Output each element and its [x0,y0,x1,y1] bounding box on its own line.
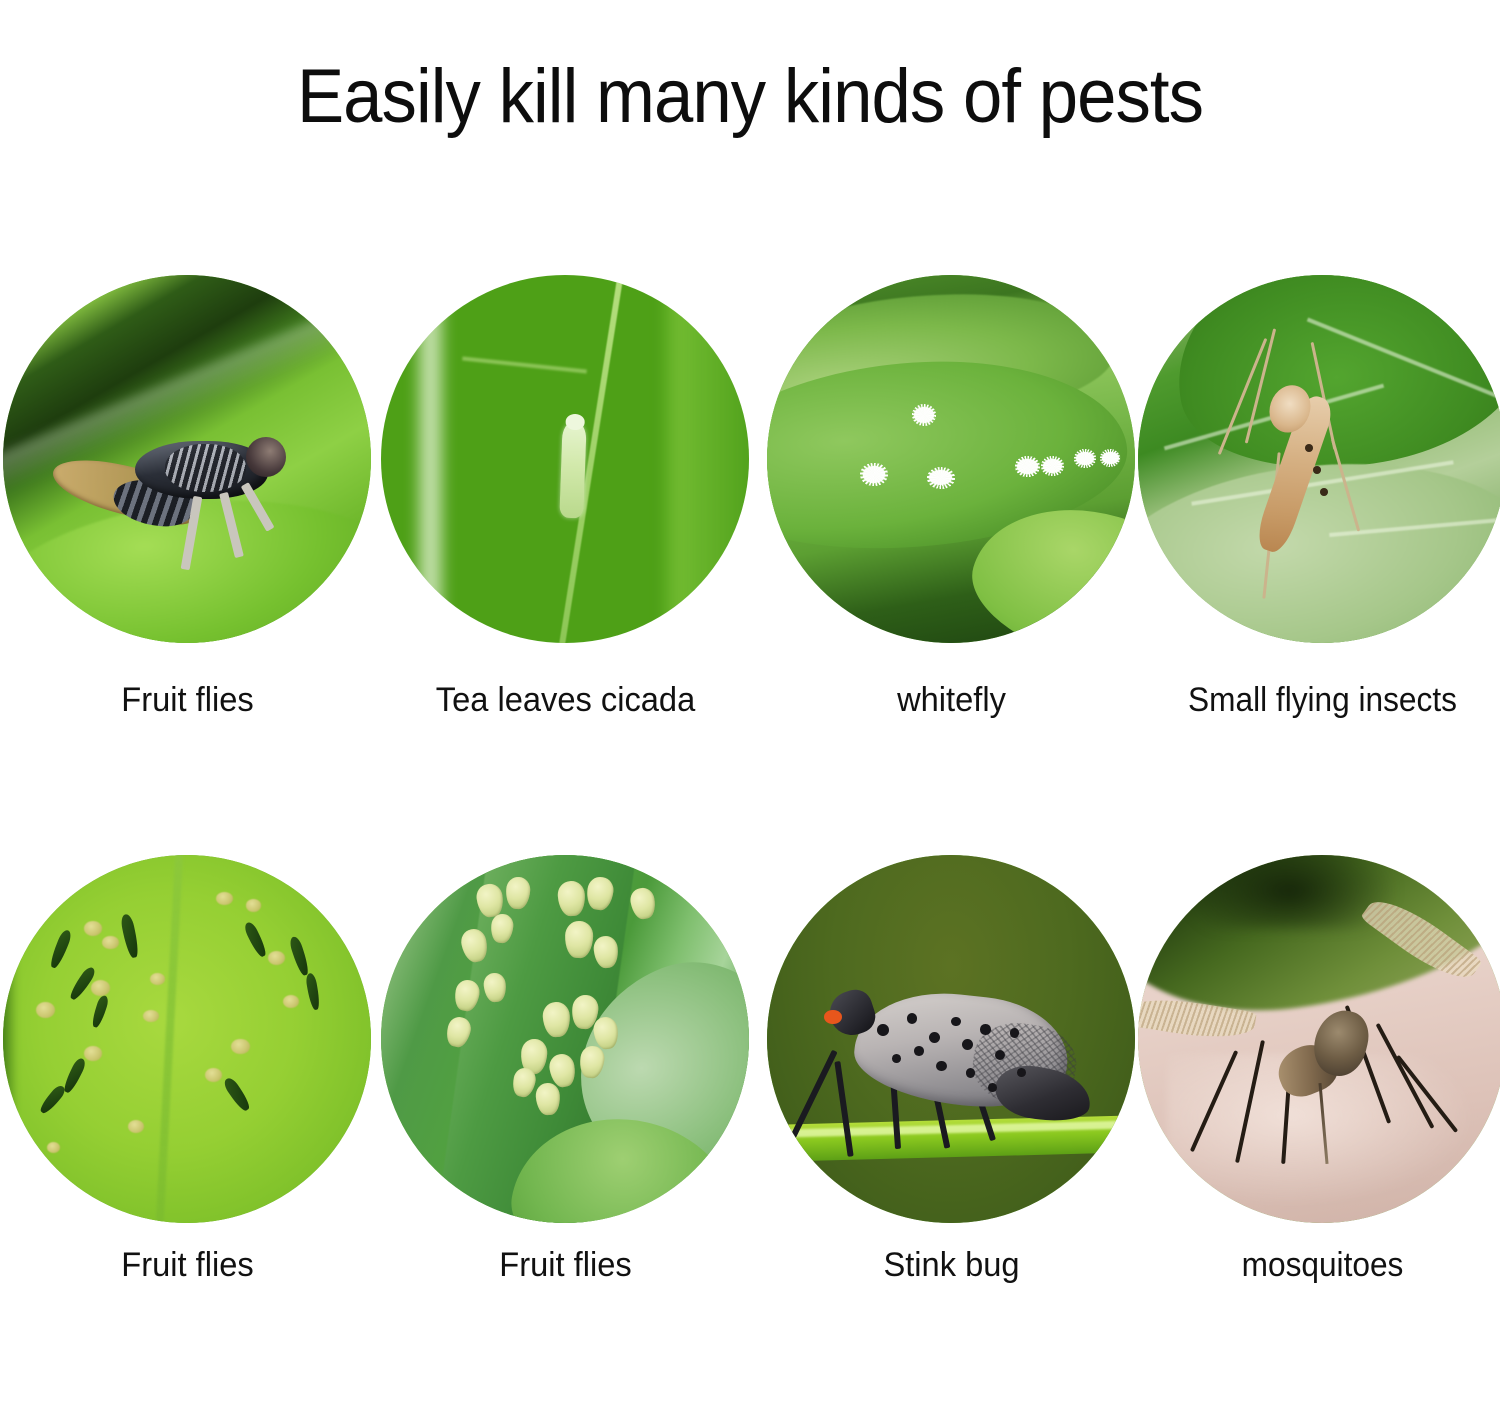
fruit-fly-on-leaf-photo [3,275,371,643]
pest-card-stink-bug[interactable]: Stink bug [764,845,1139,1425]
mosquito-on-skin-photo [1138,855,1500,1223]
small-flying-midge-on-leaf-photo [1138,275,1500,643]
pest-card-fruit-flies-1[interactable]: Fruit flies [0,265,375,845]
pest-row-2: Fruit flies [0,845,1500,1425]
tea-leafhopper-nymph-on-leaf-photo [381,275,749,643]
pest-label: Fruit flies [386,1245,746,1285]
pest-card-mosquitoes[interactable]: mosquitoes [1135,845,1500,1425]
pest-label: mosquitoes [1148,1245,1497,1285]
pest-label: whitefly [772,680,1132,720]
pest-gallery-grid: Fruit flies Tea leaves cicada [0,265,1500,1425]
aphid-colony-on-stem-photo [381,855,749,1223]
pest-card-tea-leaves-cicada[interactable]: Tea leaves cicada [378,265,753,845]
pest-label: Stink bug [772,1245,1132,1285]
pest-label: Fruit flies [8,1245,368,1285]
leaf-damage-specks-photo [3,855,371,1223]
whiteflies-on-leaf-photo [767,275,1135,643]
pest-card-fruit-flies-2[interactable]: Fruit flies [0,845,375,1425]
spotted-lanternfly-on-stem-photo [767,855,1135,1223]
pest-card-small-flying-insects[interactable]: Small flying insects [1135,265,1500,845]
pest-row-1: Fruit flies Tea leaves cicada [0,265,1500,845]
pest-label: Fruit flies [8,680,368,720]
pest-label: Tea leaves cicada [386,680,746,720]
pest-label: Small flying insects [1148,680,1497,720]
pest-card-whitefly[interactable]: whitefly [764,265,1139,845]
pest-card-fruit-flies-3[interactable]: Fruit flies [378,845,753,1425]
page-title: Easily kill many kinds of pests [53,53,1448,141]
